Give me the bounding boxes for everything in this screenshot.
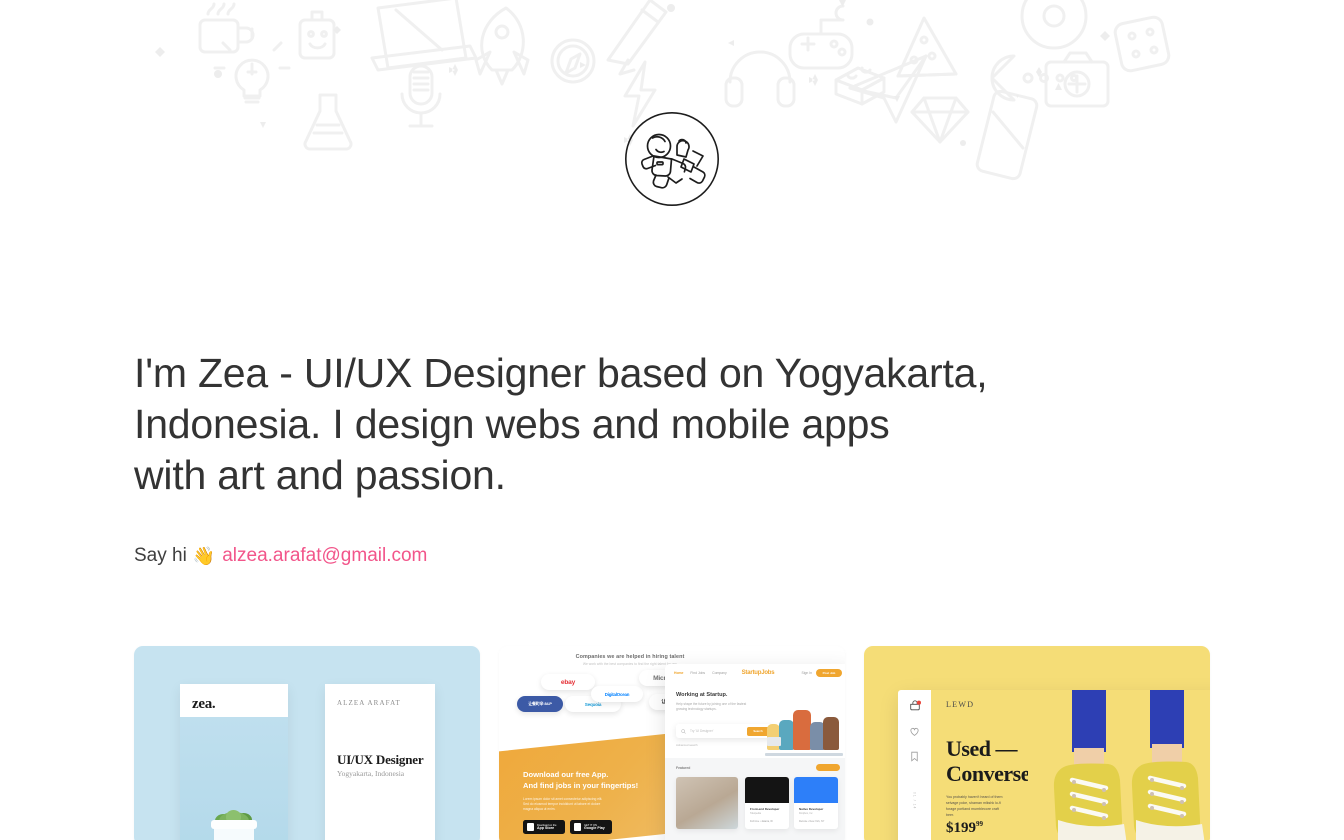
shop-brand: LEWD [946,700,974,709]
product-price: $19999 [946,820,983,837]
person-location: Yogyakarta, Indonesia [337,769,404,778]
featured-card-company: Tokopedia [750,812,761,815]
advanced-search-link[interactable]: Advanced search [676,743,698,747]
cart-icon[interactable] [909,699,921,711]
site-hero: Working at Startup. Help shape the futur… [665,682,845,758]
play-icon [574,823,581,831]
company-logo-pill: DigitalOcean [591,686,643,702]
featured-card-title: Front-end Developer [750,807,779,811]
slide-counter: 01 / 14 [913,792,917,809]
search-icon [681,729,686,734]
nav-item-company[interactable]: Company [712,671,727,675]
brand-sheet: zea. [180,684,288,840]
featured-card[interactable]: Front-end Developer Tokopedia Full time … [745,777,789,829]
nav-item-home[interactable]: Home [674,671,683,675]
job-search-bar[interactable]: Try 'UI Designer' Search [676,724,774,738]
featured-card-meta: Full time • Jakarta, ID [750,820,773,823]
project-cards: zea. ALZEA ARAFAT UI/UX Designer Yogyaka… [134,646,1210,840]
profile-sheet: ALZEA ARAFAT UI/UX Designer Yogyakarta, … [325,684,435,840]
search-placeholder: Try 'UI Designer' [690,729,713,733]
heart-icon[interactable] [909,724,921,736]
project-card-personal-branding[interactable]: zea. ALZEA ARAFAT UI/UX Designer Yogyaka… [134,646,480,840]
plant-photo [180,717,288,840]
hero-title: Working at Startup. [676,692,728,698]
apple-icon [527,823,534,831]
badge-large: App Store [537,827,556,830]
featured-card-meta: Remote • New York, NY [799,820,824,823]
shop-page-mockup: 01 / 14 LEWD Used — Converse. You probab… [898,690,1210,840]
featured-section: Featured Front-end Developer Tokopedia F… [665,758,845,840]
featured-card-company: Dropbox, Inc [799,812,813,815]
bookmark-icon[interactable] [909,749,921,761]
project-card-startup-jobs[interactable]: Companies we are helped in hiring talent… [499,646,845,840]
featured-card[interactable] [676,777,738,829]
site-logo: StartupJobs [742,670,775,676]
converse-shoes-photo [1028,690,1210,840]
google-play-badge[interactable]: GET IT ON Google Play [570,820,612,834]
contact-line: Say hi 👋 alzea.arafat@gmail.com [134,543,427,569]
featured-label: Featured [676,766,690,770]
side-rail: 01 / 14 [898,690,931,840]
email-link[interactable]: alzea.arafat@gmail.com [222,543,427,569]
nav-post-job-button[interactable]: Post Job [816,669,842,677]
company-logo-pill: 让餐町辛 84.P [517,696,563,712]
say-hi-label: Say hi [134,543,187,569]
person-role: UI/UX Designer [337,752,423,768]
companies-heading: Companies we are helped in hiring talent [499,654,761,660]
website-mockup: Home Find Jobs Company StartupJobs Sign … [665,664,845,840]
plant-illustration [202,790,266,840]
hero-subtitle: Help shape the future by joining one of … [676,702,760,711]
people-illustration [765,706,843,758]
project-card-used-converse[interactable]: 01 / 14 LEWD Used — Converse. You probab… [864,646,1210,840]
company-logo-pill: ebay [541,674,595,690]
app-store-badge[interactable]: Download on the App Store [523,820,565,834]
product-title: Used — Converse. [946,736,1035,786]
featured-see-more-button[interactable] [816,764,840,771]
site-navbar: Home Find Jobs Company StartupJobs Sign … [665,664,845,682]
featured-card[interactable]: Native Developer Dropbox, Inc Remote • N… [794,777,838,829]
portfolio-page: I'm Zea - UI/UX Designer based on Yogyak… [0,0,1344,840]
nav-sign-in[interactable]: Sign In [801,671,812,675]
astronaut-logo[interactable] [624,111,720,207]
person-name: ALZEA ARAFAT [337,699,401,707]
featured-card-title: Native Developer [799,807,823,811]
badge-large: Google Play [584,827,605,830]
waving-hand-icon: 👋 [193,547,215,565]
nav-item-find-jobs[interactable]: Find Jobs [690,671,705,675]
page-title: I'm Zea - UI/UX Designer based on Yogyak… [134,348,1134,501]
brandmark-label: zea. [192,696,215,713]
